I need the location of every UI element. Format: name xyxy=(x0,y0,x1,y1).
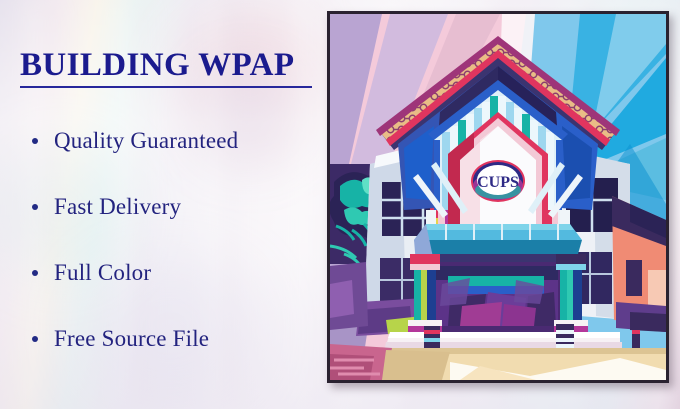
sign-text: CUPS xyxy=(477,174,519,191)
wpap-vector: CUPS xyxy=(330,14,666,380)
artwork-canvas: CUPS xyxy=(330,14,666,380)
bullet-dot-icon xyxy=(32,204,38,210)
feature-label: Free Source File xyxy=(54,326,209,352)
promo-banner: BUILDING WPAP Quality Guaranteed Fast De… xyxy=(0,0,680,409)
title-block: BUILDING WPAP xyxy=(20,48,316,88)
list-item: Free Source File xyxy=(24,326,324,392)
title-underline xyxy=(20,86,312,88)
bullet-dot-icon xyxy=(32,336,38,342)
list-item: Fast Delivery xyxy=(24,194,324,260)
feature-label: Full Color xyxy=(54,260,151,286)
feature-list: Quality Guaranteed Fast Delivery Full Co… xyxy=(24,128,324,392)
wpap-building-illustration: CUPS xyxy=(330,14,666,380)
bullet-dot-icon xyxy=(32,138,38,144)
list-item: Full Color xyxy=(24,260,324,326)
text-panel: BUILDING WPAP Quality Guaranteed Fast De… xyxy=(0,0,330,409)
cups-sign: CUPS xyxy=(471,160,525,202)
page-title: BUILDING WPAP xyxy=(20,48,316,83)
feature-label: Quality Guaranteed xyxy=(54,128,238,154)
feature-label: Fast Delivery xyxy=(54,194,181,220)
list-item: Quality Guaranteed xyxy=(24,128,324,194)
bullet-dot-icon xyxy=(32,270,38,276)
artwork-frame: CUPS xyxy=(327,11,669,383)
